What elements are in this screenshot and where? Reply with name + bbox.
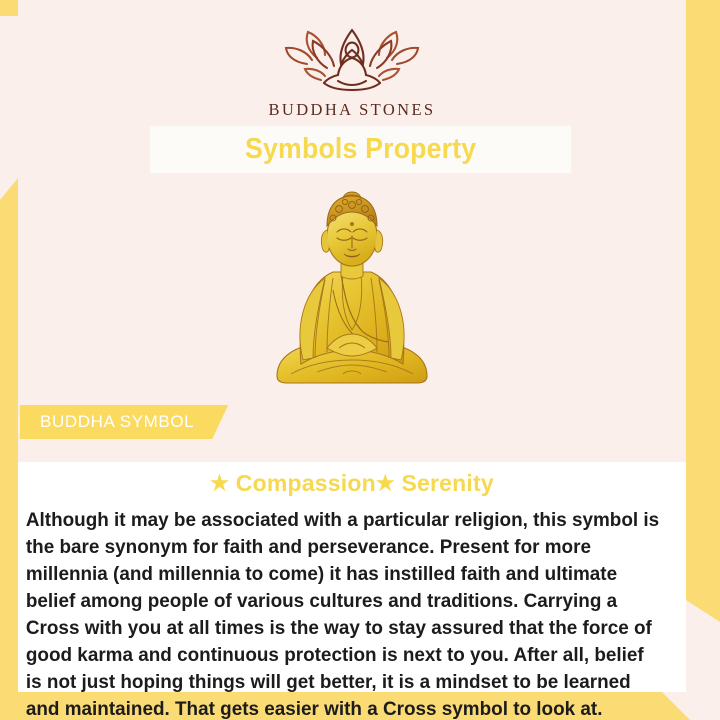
seated-golden-buddha-icon bbox=[257, 178, 447, 398]
attributes-heading: ★ Compassion★ Serenity bbox=[18, 462, 686, 497]
star-icon-2: ★ bbox=[376, 472, 395, 495]
decorative-right-band bbox=[686, 0, 720, 622]
attribute-compassion: Compassion bbox=[236, 470, 376, 496]
poster-canvas: BUDDHA STONES Symbols Property bbox=[0, 0, 720, 720]
description-section: ★ Compassion★ Serenity Although it may b… bbox=[18, 462, 686, 692]
title-banner: Symbols Property bbox=[150, 126, 571, 173]
hero-section: BUDDHA STONES Symbols Property bbox=[18, 0, 686, 462]
star-icon-1: ★ bbox=[210, 472, 229, 495]
buddha-symbol-tag-label: BUDDHA SYMBOL bbox=[40, 412, 194, 432]
buddha-symbol-tag: BUDDHA SYMBOL bbox=[20, 405, 228, 439]
hero-image bbox=[18, 178, 686, 398]
page-title: Symbols Property bbox=[245, 133, 476, 166]
attribute-serenity: Serenity bbox=[401, 470, 493, 496]
decorative-left-band bbox=[0, 178, 18, 720]
brand-logo: BUDDHA STONES bbox=[18, 22, 686, 120]
brand-wordmark: BUDDHA STONES bbox=[18, 100, 686, 120]
lotus-meditation-figure-icon bbox=[277, 22, 427, 92]
description-body: Although it may be associated with a par… bbox=[18, 497, 676, 720]
